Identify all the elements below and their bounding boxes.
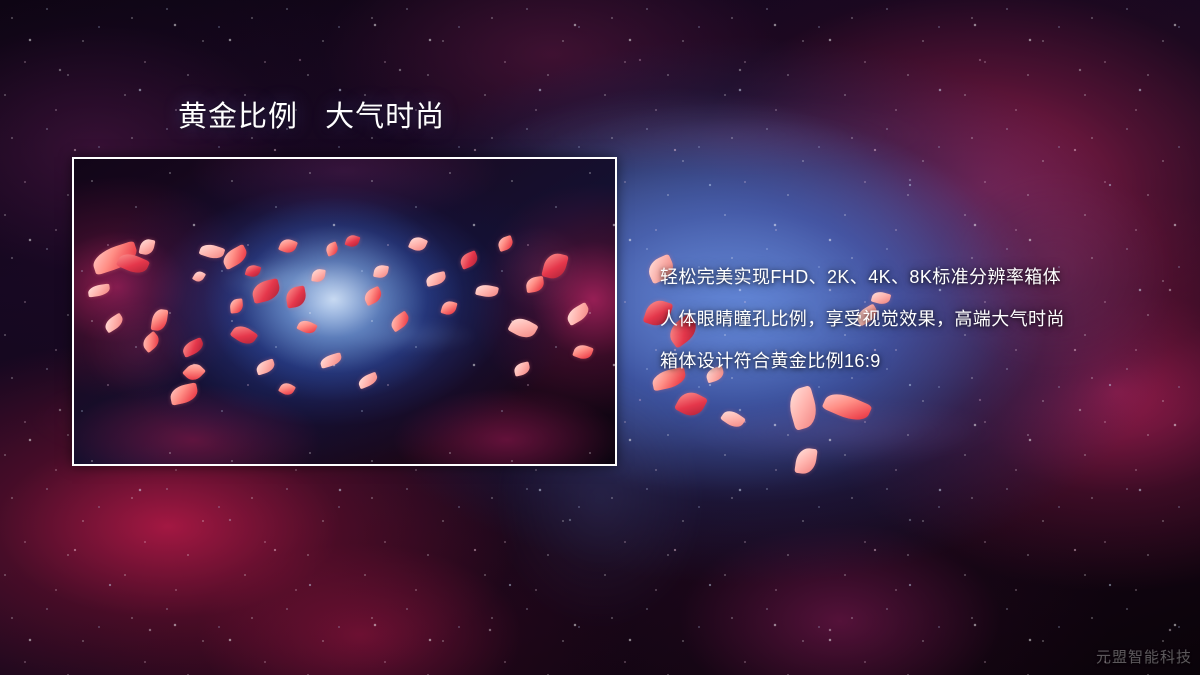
body-line-2: 人体眼睛瞳孔比例，享受视觉效果，高端大气时尚 [660, 298, 1180, 340]
petal [785, 385, 821, 431]
body-line-1: 轻松完美实现FHD、2K、4K、8K标准分辨率箱体 [660, 256, 1180, 298]
watermark: 元盟智能科技 [1096, 646, 1192, 667]
petal [720, 407, 746, 431]
slide-title: 黄金比例 大气时尚 [178, 100, 445, 134]
petal [794, 447, 817, 476]
body-copy: 轻松完美实现FHD、2K、4K、8K标准分辨率箱体 人体眼睛瞳孔比例，享受视觉效… [660, 256, 1180, 382]
preview-image [74, 159, 615, 464]
body-line-3: 箱体设计符合黄金比例16:9 [660, 340, 1180, 382]
petal [674, 387, 708, 420]
petal [822, 388, 873, 427]
preview-frame [72, 157, 617, 466]
slide-stage: 黄金比例 大气时尚 [0, 0, 1200, 675]
